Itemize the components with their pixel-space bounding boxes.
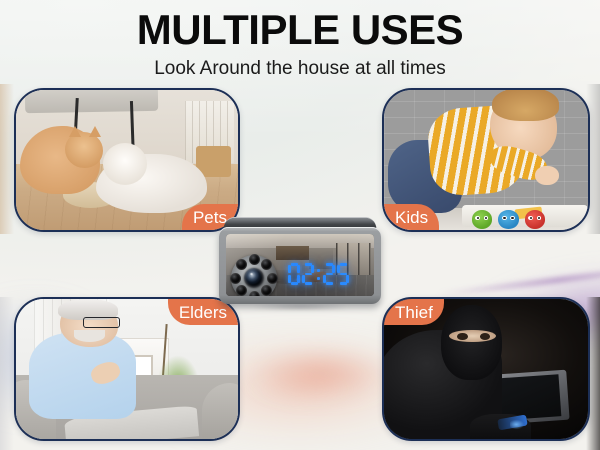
- poster-canvas: MULTIPLE USES Look Around the house at a…: [0, 0, 600, 450]
- ir-led-icon: [261, 259, 272, 270]
- clock-display: [288, 263, 349, 285]
- ir-led-icon: [236, 285, 247, 296]
- ir-led-icon: [230, 273, 241, 284]
- clock-digit: [302, 263, 314, 285]
- panel-kids[interactable]: Kids: [382, 88, 590, 232]
- camera-module: [231, 255, 277, 296]
- ir-led-icon: [249, 254, 260, 265]
- header: MULTIPLE USES Look Around the house at a…: [0, 0, 600, 78]
- corner-bleed-bottom-left: [0, 297, 14, 450]
- clock-digit: [288, 263, 300, 285]
- hidden-camera-alarm-clock[interactable]: [219, 216, 381, 304]
- page-title: MULTIPLE USES: [0, 9, 600, 51]
- corner-bleed-top-left: [0, 84, 14, 234]
- panel-pets[interactable]: Pets: [14, 88, 240, 232]
- device-mirror-face: [226, 234, 374, 296]
- ir-led-icon: [261, 285, 272, 296]
- page-subtitle: Look Around the house at all times: [0, 59, 600, 78]
- camera-lens-icon: [244, 268, 264, 288]
- ir-led-icon: [249, 291, 260, 296]
- ir-led-icon: [267, 273, 278, 284]
- panel-elders[interactable]: Elders: [14, 297, 240, 441]
- clock-colon: [316, 263, 321, 285]
- device-body: [219, 227, 381, 304]
- panel-thief[interactable]: Thief: [382, 297, 590, 441]
- clock-digit: [323, 263, 335, 285]
- badge-kids: Kids: [384, 204, 439, 230]
- ir-led-icon: [236, 259, 247, 270]
- clock-digit: [337, 263, 349, 285]
